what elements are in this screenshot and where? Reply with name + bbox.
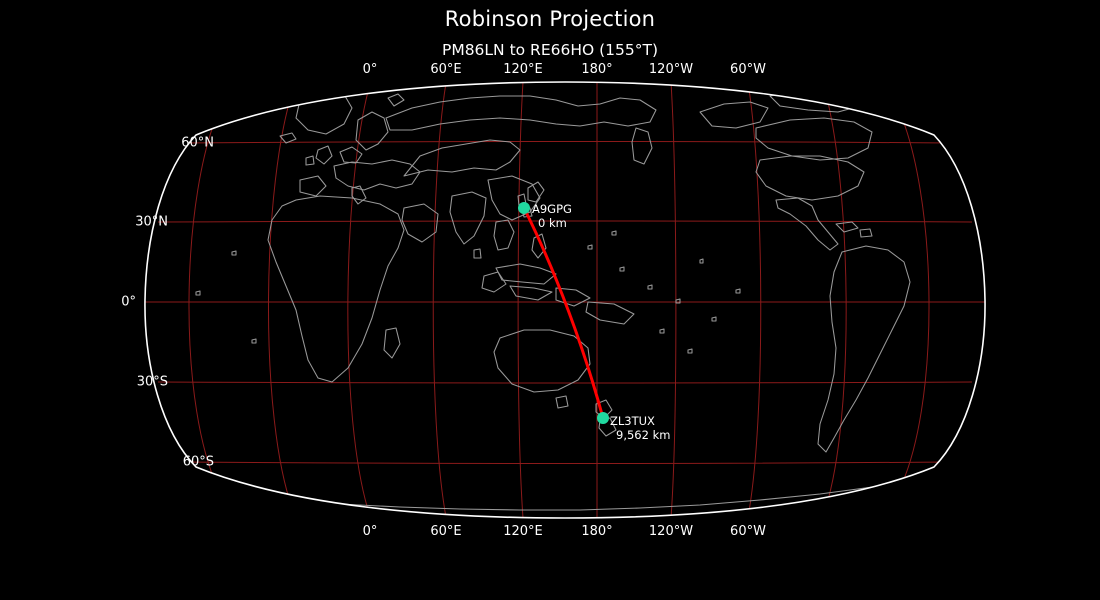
lon-tick-bottom-180: 180° (581, 524, 612, 539)
marker-dot-end[interactable] (597, 412, 609, 424)
lon-tick-bottom-120e: 120°E (503, 524, 543, 539)
marker-label-start: A9GPG 0 km (532, 202, 572, 230)
lat-tick-30n: 30°N (135, 215, 168, 230)
marker-label-end: ZL3TUX 9,562 km (610, 414, 670, 442)
figure-canvas: Robinson Projection PM86LN to RE66HO (15… (0, 0, 1100, 600)
lon-tick-top-180: 180° (581, 62, 612, 77)
map-canvas (0, 0, 1100, 600)
marker-distance-start: 0 km (532, 216, 572, 230)
lon-tick-top-60w: 60°W (730, 62, 766, 77)
marker-callsign-end: ZL3TUX (610, 414, 655, 428)
marker-callsign-start: A9GPG (532, 202, 572, 216)
lon-tick-bottom-60e: 60°E (430, 524, 461, 539)
lon-tick-bottom-0: 0° (363, 524, 378, 539)
lon-tick-top-60e: 60°E (430, 62, 461, 77)
marker-distance-end: 9,562 km (610, 428, 670, 442)
marker-dot-start[interactable] (518, 202, 530, 214)
lat-tick-60s: 60°S (183, 455, 214, 470)
lon-tick-top-0: 0° (363, 62, 378, 77)
lon-tick-bottom-60w: 60°W (730, 524, 766, 539)
lat-tick-60n: 60°N (181, 136, 214, 151)
lon-tick-top-120e: 120°E (503, 62, 543, 77)
lon-tick-bottom-120w: 120°W (649, 524, 693, 539)
lat-tick-30s: 30°S (137, 375, 168, 390)
lon-tick-top-120w: 120°W (649, 62, 693, 77)
lat-tick-0: 0° (121, 295, 136, 310)
